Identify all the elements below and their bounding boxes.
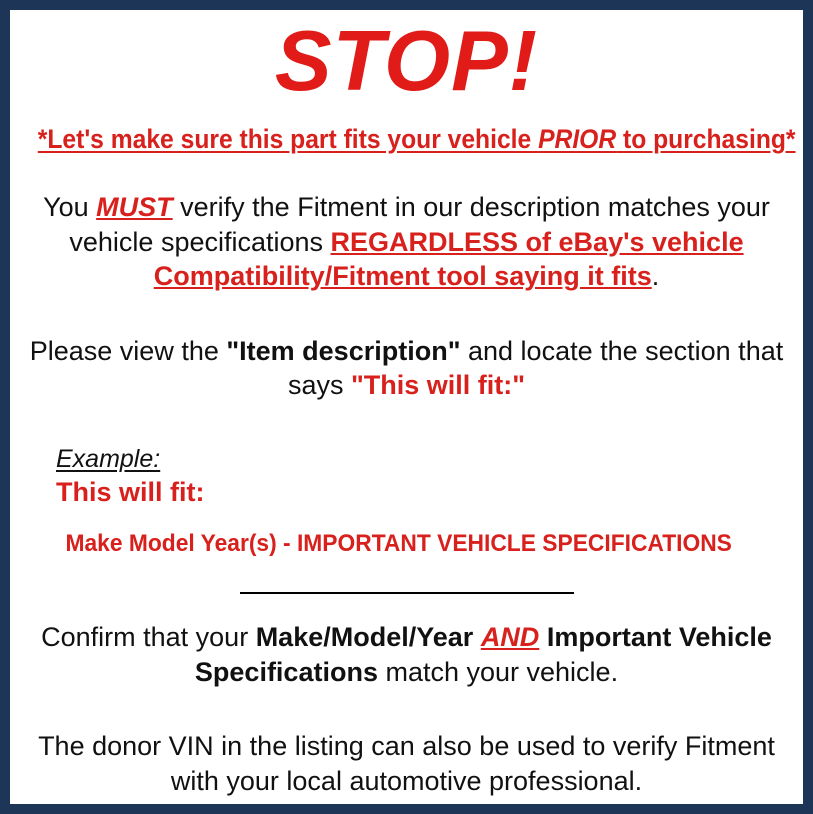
- example-fit-heading: This will fit:: [56, 477, 803, 508]
- confirm-seg-4: match your vehicle.: [378, 657, 618, 687]
- example-label-row: Example:: [56, 445, 803, 474]
- subtitle-text-after: to purchasing*: [616, 124, 795, 154]
- stop-title: STOP!: [10, 10, 803, 108]
- must-emphasis: MUST: [96, 192, 173, 222]
- example-block: Example: This will fit: Make Model Year(…: [10, 445, 803, 558]
- divider-rule: [240, 592, 574, 594]
- subtitle-text-before: *Let's make sure this part fits your veh…: [38, 124, 538, 154]
- subtitle-prior-emphasis: PRIOR: [538, 124, 616, 154]
- must-seg-3: .: [652, 261, 660, 291]
- fitment-notice-card: STOP! *Let's make sure this part fits yo…: [0, 0, 813, 814]
- paragraph-view-description: Please view the "Item description" and l…: [10, 334, 803, 403]
- confirm-seg-1: Confirm that your: [41, 622, 256, 652]
- make-model-year-emphasis: Make/Model/Year: [256, 622, 474, 652]
- confirm-seg-2: [473, 622, 481, 652]
- paragraph-donor-vin: The donor VIN in the listing can also be…: [10, 729, 803, 798]
- paragraph-confirm-match: Confirm that your Make/Model/Year AND Im…: [10, 620, 803, 689]
- and-emphasis: AND: [481, 622, 540, 652]
- must-seg-1: You: [43, 192, 96, 222]
- notice-content: STOP! *Let's make sure this part fits yo…: [10, 10, 803, 804]
- paragraph-must-verify: You MUST verify the Fitment in our descr…: [10, 190, 803, 294]
- divider: [10, 584, 803, 598]
- example-spec-line: Make Model Year(s) - IMPORTANT VEHICLE S…: [56, 530, 766, 558]
- view-seg-1: Please view the: [30, 336, 227, 366]
- subtitle-banner: *Let's make sure this part fits your veh…: [38, 124, 775, 154]
- example-label: Example:: [56, 445, 160, 474]
- item-description-emphasis: "Item description": [226, 336, 460, 366]
- confirm-seg-3: [539, 622, 547, 652]
- this-will-fit-quote: "This will fit:": [351, 370, 525, 400]
